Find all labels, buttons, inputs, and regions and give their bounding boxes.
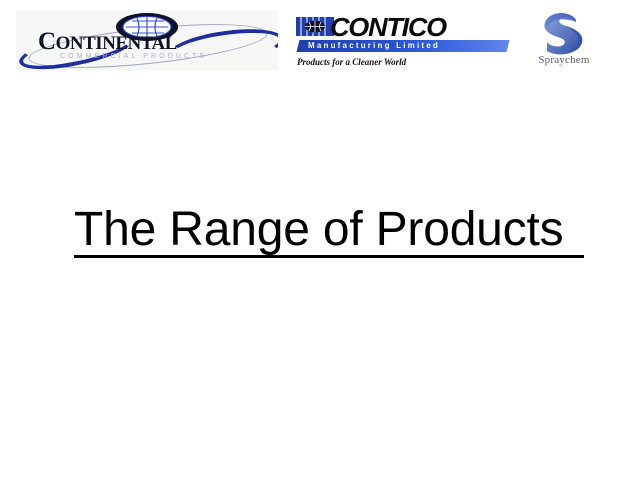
striped-globe-icon <box>296 17 334 36</box>
contico-wordmark: CONTICO <box>330 14 446 40</box>
spraychem-logo: Spraychem <box>526 10 602 72</box>
slide-title: The Range of Products <box>74 206 584 254</box>
logo-band: CONTINENTAL COMMERCIAL PRODUCTS CONTICO <box>0 0 640 80</box>
contico-logo: CONTICO Manufacturing Limited Products f… <box>296 14 512 72</box>
continental-tagline: COMMERCIAL PRODUCTS <box>60 53 207 60</box>
contico-slogan: Products for a Cleaner World <box>297 57 406 67</box>
continental-wordmark: CONTINENTAL <box>38 29 268 54</box>
slide-body <box>0 280 640 480</box>
continental-wordmark-initial: C <box>38 28 56 55</box>
slide-title-underline <box>74 255 584 258</box>
continental-logo: CONTINENTAL COMMERCIAL PRODUCTS <box>16 11 278 70</box>
swirl-s-icon <box>538 10 588 56</box>
contico-subtitle: Manufacturing Limited <box>308 41 440 50</box>
continental-wordmark-rest: ONTINENTAL <box>56 33 177 54</box>
spraychem-name: Spraychem <box>526 54 602 66</box>
